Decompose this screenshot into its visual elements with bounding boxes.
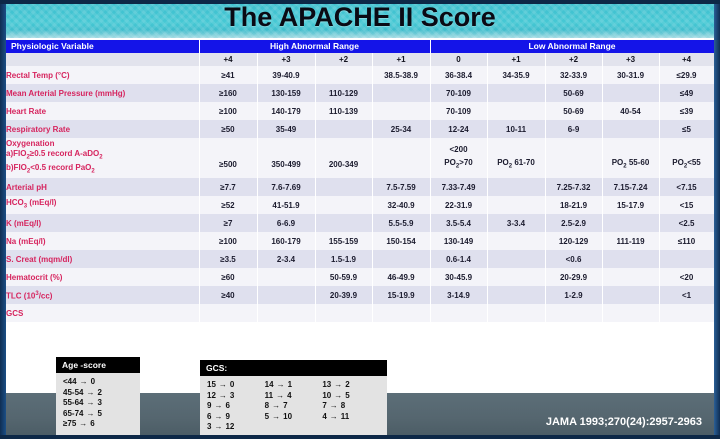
score-header-plus3-high: +3 — [257, 53, 315, 66]
cell-value — [487, 196, 545, 214]
age-score-row: ≥75→6 — [63, 419, 133, 430]
table-body: Rectal Temp (°C)≥4139-40.9 38.5-38.936-3… — [6, 66, 714, 322]
cell-value: ≥41 — [199, 66, 257, 84]
row-label-oxygenation: Oxygenationa)FIO2≥0.5 record A-aDO2b)FIO… — [6, 138, 199, 178]
cell-value: 200-349 — [315, 138, 372, 178]
cell-value — [199, 304, 257, 322]
cell-value: 35-49 — [257, 120, 315, 138]
row-label: HCO3 (mEq/l) — [6, 196, 199, 214]
cell-value — [487, 178, 545, 196]
cell-value: ≤29.9 — [659, 66, 714, 84]
cell-value: ≥100 — [199, 102, 257, 120]
cell-value: ≥50 — [199, 120, 257, 138]
cell-value: ≥3.5 — [199, 250, 257, 268]
cell-value: PO2<55 — [659, 138, 714, 178]
frame-right-border — [714, 0, 720, 439]
row-label: TLC (103/cc) — [6, 286, 199, 304]
cell-value — [487, 102, 545, 120]
cell-value — [487, 84, 545, 102]
cell-value — [659, 250, 714, 268]
cell-value: 15-17.9 — [602, 196, 659, 214]
cell-value: 0.6-1.4 — [430, 250, 487, 268]
table-row: GCS — [6, 304, 714, 322]
apache-score-table: Physiologic Variable High Abnormal Range… — [6, 40, 715, 322]
cell-value: 2-3.4 — [257, 250, 315, 268]
table-row: Arterial pH≥7.77.6-7.69 7.5-7.597.33-7.4… — [6, 178, 714, 196]
cell-value — [315, 196, 372, 214]
gcs-score-legend: GCS: 15→012→39→66→93→1214→111→48→75→1013… — [200, 360, 387, 438]
age-score-row: 55-64→3 — [63, 398, 133, 409]
cell-value: 130-159 — [257, 84, 315, 102]
cell-value: 50-59.9 — [315, 268, 372, 286]
age-score-row: <44→0 — [63, 377, 133, 388]
cell-value: 18-21.9 — [545, 196, 602, 214]
row-label: Mean Arterial Pressure (mmHg) — [6, 84, 199, 102]
cell-value: ≥500 — [199, 138, 257, 178]
cell-value: <15 — [659, 196, 714, 214]
row-label: Hematocrit (%) — [6, 268, 199, 286]
gcs-score-column: 15→012→39→66→93→12 — [207, 380, 265, 433]
score-header-plus4-low: +4 — [659, 53, 714, 66]
table-row: Heart Rate≥100140-179110-139 70-109 50-6… — [6, 102, 714, 120]
cell-value: ≥100 — [199, 232, 257, 250]
header-low-abnormal-range: Low Abnormal Range — [430, 40, 714, 53]
cell-value: 2.5-2.9 — [545, 214, 602, 232]
cell-value — [659, 304, 714, 322]
cell-value: 120-129 — [545, 232, 602, 250]
gcs-score-legend-title: GCS: — [200, 360, 387, 376]
age-score-legend-body: <44→045-54→255-64→365-74→5≥75→6 — [56, 373, 140, 435]
cell-value: 15-19.9 — [372, 286, 430, 304]
cell-value — [602, 304, 659, 322]
source-citation: JAMA 1993;270(24):2957-2963 — [546, 416, 702, 428]
cell-value: 30-45.9 — [430, 268, 487, 286]
row-label: S. Creat (mqm/dl) — [6, 250, 199, 268]
gcs-score-row: 14→1 — [265, 380, 323, 391]
cell-value: <2.5 — [659, 214, 714, 232]
cell-value: <200PO2>70 — [430, 138, 487, 178]
table-row: Oxygenationa)FIO2≥0.5 record A-aDO2b)FIO… — [6, 138, 714, 178]
table-row: Mean Arterial Pressure (mmHg)≥160130-159… — [6, 84, 714, 102]
gcs-score-column: 14→111→48→75→10 — [265, 380, 323, 433]
cell-value: 70-109 — [430, 84, 487, 102]
gcs-score-row: 15→0 — [207, 380, 265, 391]
cell-value — [602, 84, 659, 102]
cell-value: ≥7.7 — [199, 178, 257, 196]
row-label: Rectal Temp (°C) — [6, 66, 199, 84]
gcs-score-row: 12→3 — [207, 391, 265, 402]
table-row: Respiratory Rate≥5035-49 25-3412-2410-11… — [6, 120, 714, 138]
cell-value: 32-33.9 — [545, 66, 602, 84]
score-header-plus1-low: +1 — [487, 53, 545, 66]
table-row: HCO3 (mEq/l)≥5241-51.9 32-40.922-31.9 18… — [6, 196, 714, 214]
cell-value: 111-119 — [602, 232, 659, 250]
cell-value: 22-31.9 — [430, 196, 487, 214]
cell-value: 155-159 — [315, 232, 372, 250]
page-title: The APACHE II Score — [0, 2, 720, 33]
cell-value: ≥40 — [199, 286, 257, 304]
gcs-score-row: 10→5 — [322, 391, 380, 402]
cell-value — [372, 250, 430, 268]
cell-value: ≤39 — [659, 102, 714, 120]
gcs-score-row: 7→8 — [322, 401, 380, 412]
cell-value — [602, 268, 659, 286]
cell-value: ≤110 — [659, 232, 714, 250]
table-row: Rectal Temp (°C)≥4139-40.9 38.5-38.936-3… — [6, 66, 714, 84]
cell-value: 7.15-7.24 — [602, 178, 659, 196]
cell-value: 130-149 — [430, 232, 487, 250]
cell-value — [372, 84, 430, 102]
cell-value — [257, 268, 315, 286]
cell-value — [545, 304, 602, 322]
cell-value: 3-3.4 — [487, 214, 545, 232]
cell-value: <1 — [659, 286, 714, 304]
gcs-score-row: 4→11 — [322, 412, 380, 423]
cell-value: 110-129 — [315, 84, 372, 102]
cell-value: 20-39.9 — [315, 286, 372, 304]
frame-bottom-border — [0, 435, 720, 439]
cell-value: PO2 61-70 — [487, 138, 545, 178]
cell-value — [315, 120, 372, 138]
cell-value: 30-31.9 — [602, 66, 659, 84]
cell-value: 70-109 — [430, 102, 487, 120]
cell-value: PO2 55-60 — [602, 138, 659, 178]
gcs-score-row: 6→9 — [207, 412, 265, 423]
row-label: K (mEq/l) — [6, 214, 199, 232]
cell-value: 7.6-7.69 — [257, 178, 315, 196]
cell-value — [372, 138, 430, 178]
score-header-row: +4 +3 +2 +1 0 +1 +2 +3 +4 — [6, 53, 714, 66]
gcs-score-column: 13→210→57→84→11 — [322, 380, 380, 433]
cell-value: 6-6.9 — [257, 214, 315, 232]
cell-value: 7.5-7.59 — [372, 178, 430, 196]
cell-value: <7.15 — [659, 178, 714, 196]
cell-value — [315, 304, 372, 322]
group-header-row: Physiologic Variable High Abnormal Range… — [6, 40, 714, 53]
frame-top-border — [0, 0, 720, 4]
slide-canvas: The APACHE II Score Physiologic Variable… — [0, 0, 720, 439]
cell-value — [487, 250, 545, 268]
cell-value — [372, 102, 430, 120]
cell-value — [487, 304, 545, 322]
cell-value — [315, 178, 372, 196]
row-label: Na (mEq/l) — [6, 232, 199, 250]
cell-value — [430, 304, 487, 322]
cell-value: 50-69 — [545, 84, 602, 102]
cell-value — [257, 286, 315, 304]
gcs-score-row: 8→7 — [265, 401, 323, 412]
age-score-legend: Age -score <44→045-54→255-64→365-74→5≥75… — [56, 357, 140, 435]
cell-value: 36-38.4 — [430, 66, 487, 84]
cell-value: 3.5-5.4 — [430, 214, 487, 232]
table-head: Physiologic Variable High Abnormal Range… — [6, 40, 714, 66]
row-label: Heart Rate — [6, 102, 199, 120]
cell-value — [487, 232, 545, 250]
cell-value — [372, 304, 430, 322]
cell-value: 7.33-7.49 — [430, 178, 487, 196]
cell-value: 6-9 — [545, 120, 602, 138]
row-label: Respiratory Rate — [6, 120, 199, 138]
cell-value: 7.25-7.32 — [545, 178, 602, 196]
age-score-legend-title: Age -score — [56, 357, 140, 373]
cell-value: ≥7 — [199, 214, 257, 232]
cell-value: 25-34 — [372, 120, 430, 138]
cell-value — [602, 286, 659, 304]
cell-value: 39-40.9 — [257, 66, 315, 84]
cell-value: 34-35.9 — [487, 66, 545, 84]
cell-value — [487, 268, 545, 286]
row-label: Arterial pH — [6, 178, 199, 196]
score-header-plus2-high: +2 — [315, 53, 372, 66]
cell-value: 40-54 — [602, 102, 659, 120]
gcs-score-row: 3→12 — [207, 422, 265, 433]
score-header-blank — [6, 53, 199, 66]
cell-value: ≥60 — [199, 268, 257, 286]
cell-value: 3-14.9 — [430, 286, 487, 304]
gcs-score-row: 9→6 — [207, 401, 265, 412]
apache-table-container: Physiologic Variable High Abnormal Range… — [6, 40, 714, 322]
gcs-score-row: 11→4 — [265, 391, 323, 402]
cell-value: 5.5-5.9 — [372, 214, 430, 232]
cell-value: 50-69 — [545, 102, 602, 120]
cell-value: ≥52 — [199, 196, 257, 214]
cell-value: <0.6 — [545, 250, 602, 268]
gcs-score-row: 13→2 — [322, 380, 380, 391]
cell-value: 32-40.9 — [372, 196, 430, 214]
cell-value: 350-499 — [257, 138, 315, 178]
cell-value: ≤5 — [659, 120, 714, 138]
cell-value: 140-179 — [257, 102, 315, 120]
table-row: K (mEq/l)≥76-6.9 5.5-5.93.5-5.43-3.42.5-… — [6, 214, 714, 232]
gcs-score-legend-body: 15→012→39→66→93→1214→111→48→75→1013→210→… — [200, 376, 387, 438]
cell-value: 46-49.9 — [372, 268, 430, 286]
age-score-row: 65-74→5 — [63, 409, 133, 420]
cell-value — [257, 304, 315, 322]
cell-value: 110-139 — [315, 102, 372, 120]
cell-value — [602, 250, 659, 268]
score-header-plus2-low: +2 — [545, 53, 602, 66]
cell-value: 150-154 — [372, 232, 430, 250]
table-row: S. Creat (mqm/dl)≥3.52-3.41.5-1.9 0.6-1.… — [6, 250, 714, 268]
cell-value — [315, 214, 372, 232]
score-header-zero: 0 — [430, 53, 487, 66]
cell-value: 10-11 — [487, 120, 545, 138]
cell-value — [315, 66, 372, 84]
cell-value: 1-2.9 — [545, 286, 602, 304]
cell-value — [602, 214, 659, 232]
gcs-score-row: 5→10 — [265, 412, 323, 423]
frame-left-border — [0, 0, 6, 439]
cell-value: ≤49 — [659, 84, 714, 102]
score-header-plus1-high: +1 — [372, 53, 430, 66]
cell-value — [545, 138, 602, 178]
cell-value: 41-51.9 — [257, 196, 315, 214]
score-header-plus4-high: +4 — [199, 53, 257, 66]
cell-value: 12-24 — [430, 120, 487, 138]
cell-value: ≥160 — [199, 84, 257, 102]
cell-value: 38.5-38.9 — [372, 66, 430, 84]
cell-value: 1.5-1.9 — [315, 250, 372, 268]
cell-value — [602, 120, 659, 138]
table-row: Na (mEq/l)≥100160-179155-159150-154130-1… — [6, 232, 714, 250]
score-header-plus3-low: +3 — [602, 53, 659, 66]
age-score-row: 45-54→2 — [63, 388, 133, 399]
header-high-abnormal-range: High Abnormal Range — [199, 40, 430, 53]
cell-value: 160-179 — [257, 232, 315, 250]
table-row: TLC (103/cc)≥40 20-39.915-19.93-14.9 1-2… — [6, 286, 714, 304]
table-row: Hematocrit (%)≥60 50-59.946-49.930-45.9 … — [6, 268, 714, 286]
row-label: GCS — [6, 304, 199, 322]
cell-value: 20-29.9 — [545, 268, 602, 286]
cell-value: <20 — [659, 268, 714, 286]
cell-value — [487, 286, 545, 304]
header-physiologic-variable: Physiologic Variable — [6, 40, 199, 53]
